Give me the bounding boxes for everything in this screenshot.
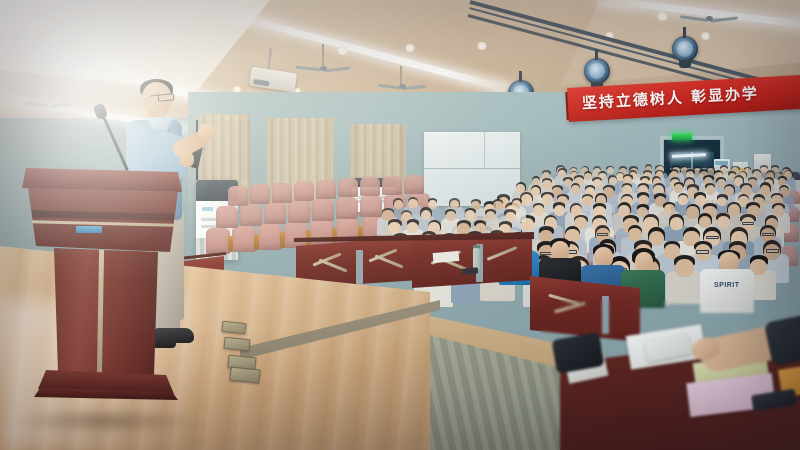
audience-member-head: [512, 200, 521, 209]
tshirt-graphic-text: SPIRIT: [714, 282, 740, 289]
eyeglasses: [742, 222, 754, 225]
audience-member-head: [622, 185, 631, 194]
presenter-hand: [198, 124, 215, 141]
audience-member-head: [675, 259, 694, 278]
audience-member-head: [450, 200, 459, 209]
audience-member-head: [465, 210, 475, 220]
audience-member-head: [388, 222, 401, 234]
eyeglasses: [597, 233, 608, 236]
eyeglasses: [766, 249, 779, 252]
attendee-spirit-tshirt: SPIRIT: [700, 250, 756, 316]
eyeglasses: [158, 93, 175, 101]
auditorium-photo: 坚持立德树人 彰显办学: [0, 0, 800, 450]
presenter-ear: [144, 96, 151, 105]
lectern: [22, 168, 182, 418]
lectern-label: [76, 226, 102, 233]
audience-member: [666, 255, 704, 309]
row-desk-front: [412, 232, 532, 288]
eyeglasses: [762, 233, 774, 236]
floor-power-outlet: [229, 366, 260, 383]
eyeglasses: [706, 236, 719, 239]
lectern-body: [50, 248, 162, 376]
lectern-top: [22, 168, 182, 192]
